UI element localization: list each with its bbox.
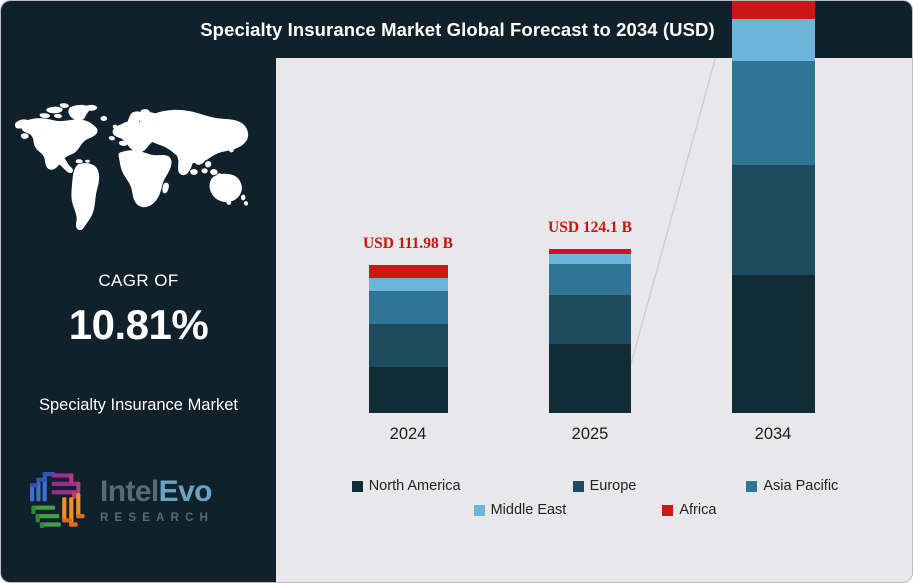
bar-segment-middle-east[interactable] <box>369 278 448 291</box>
stacked-bar[interactable] <box>369 265 448 413</box>
cagr-caption: CAGR OF <box>1 271 276 291</box>
legend-item-asia-pacific[interactable]: Asia Pacific <box>746 478 838 494</box>
chart-legend: North AmericaEuropeAsia PacificMiddle Ea… <box>276 478 913 518</box>
x-axis-label-2024: 2024 <box>390 425 427 444</box>
left-summary-panel: CAGR OF 10.81% Specialty Insurance Marke… <box>1 1 276 583</box>
logo-word-intel: Intel <box>100 475 159 508</box>
bar-segment-north-america[interactable] <box>369 367 448 413</box>
bar-segment-asia-pacific[interactable] <box>549 264 631 296</box>
legend-item-middle-east[interactable]: Middle East <box>474 502 567 518</box>
bar-segment-africa[interactable] <box>732 0 815 19</box>
bar-segment-africa[interactable] <box>369 265 448 278</box>
stacked-bar[interactable] <box>732 0 815 413</box>
legend-swatch-icon <box>352 481 363 492</box>
stacked-bar[interactable] <box>549 249 631 413</box>
legend-swatch-icon <box>474 505 485 516</box>
x-axis-label-2025: 2025 <box>572 425 609 444</box>
bar-total-label-2024: USD 111.98 B <box>363 235 453 253</box>
chart-panel: USD 111.98 B2024USD 124.1 B2025USD 312.4… <box>276 58 913 583</box>
bar-group-2024[interactable]: USD 111.98 B2024 <box>369 265 448 413</box>
legend-swatch-icon <box>662 505 673 516</box>
cagr-value: 10.81% <box>1 301 276 349</box>
infographic-canvas: CAGR OF 10.81% Specialty Insurance Marke… <box>0 0 913 583</box>
bar-total-label-2025: USD 124.1 B <box>548 219 632 237</box>
legend-item-europe[interactable]: Europe <box>573 478 637 494</box>
page-title: Specialty Insurance Market Global Foreca… <box>200 19 715 41</box>
legend-swatch-icon <box>746 481 757 492</box>
bar-segment-middle-east[interactable] <box>549 254 631 264</box>
legend-label: North America <box>369 478 461 494</box>
legend-label: Europe <box>590 478 637 494</box>
logo-word-evo: Evo <box>159 475 212 508</box>
legend-label: Africa <box>679 502 716 518</box>
legend-swatch-icon <box>573 481 584 492</box>
bar-segment-middle-east[interactable] <box>732 19 815 61</box>
intelevo-logo: IntelEvo RESEARCH <box>23 463 259 537</box>
x-axis-label-2034: 2034 <box>755 425 792 444</box>
legend-row: Middle EastAfrica <box>474 502 717 518</box>
intelevo-pinwheel-logo-icon <box>23 465 93 535</box>
bar-segment-asia-pacific[interactable] <box>732 61 815 166</box>
bar-segment-asia-pacific[interactable] <box>369 291 448 324</box>
bar-segment-europe[interactable] <box>549 295 631 344</box>
legend-item-north-america[interactable]: North America <box>352 478 461 494</box>
legend-row: North AmericaEuropeAsia Pacific <box>352 478 839 494</box>
panel-subtitle: Specialty Insurance Market <box>1 396 276 415</box>
bar-segment-europe[interactable] <box>732 165 815 275</box>
legend-item-africa[interactable]: Africa <box>662 502 716 518</box>
legend-label: Asia Pacific <box>763 478 838 494</box>
bar-segment-north-america[interactable] <box>549 344 631 413</box>
bar-segment-north-america[interactable] <box>732 275 815 413</box>
bar-group-2025[interactable]: USD 124.1 B2025 <box>549 249 631 413</box>
logo-tagline: RESEARCH <box>100 512 214 524</box>
bar-segment-europe[interactable] <box>369 324 448 367</box>
bar-group-2034[interactable]: USD 312.44 B2034 <box>732 0 815 413</box>
world-map-icon <box>9 89 271 237</box>
legend-label: Middle East <box>491 502 567 518</box>
